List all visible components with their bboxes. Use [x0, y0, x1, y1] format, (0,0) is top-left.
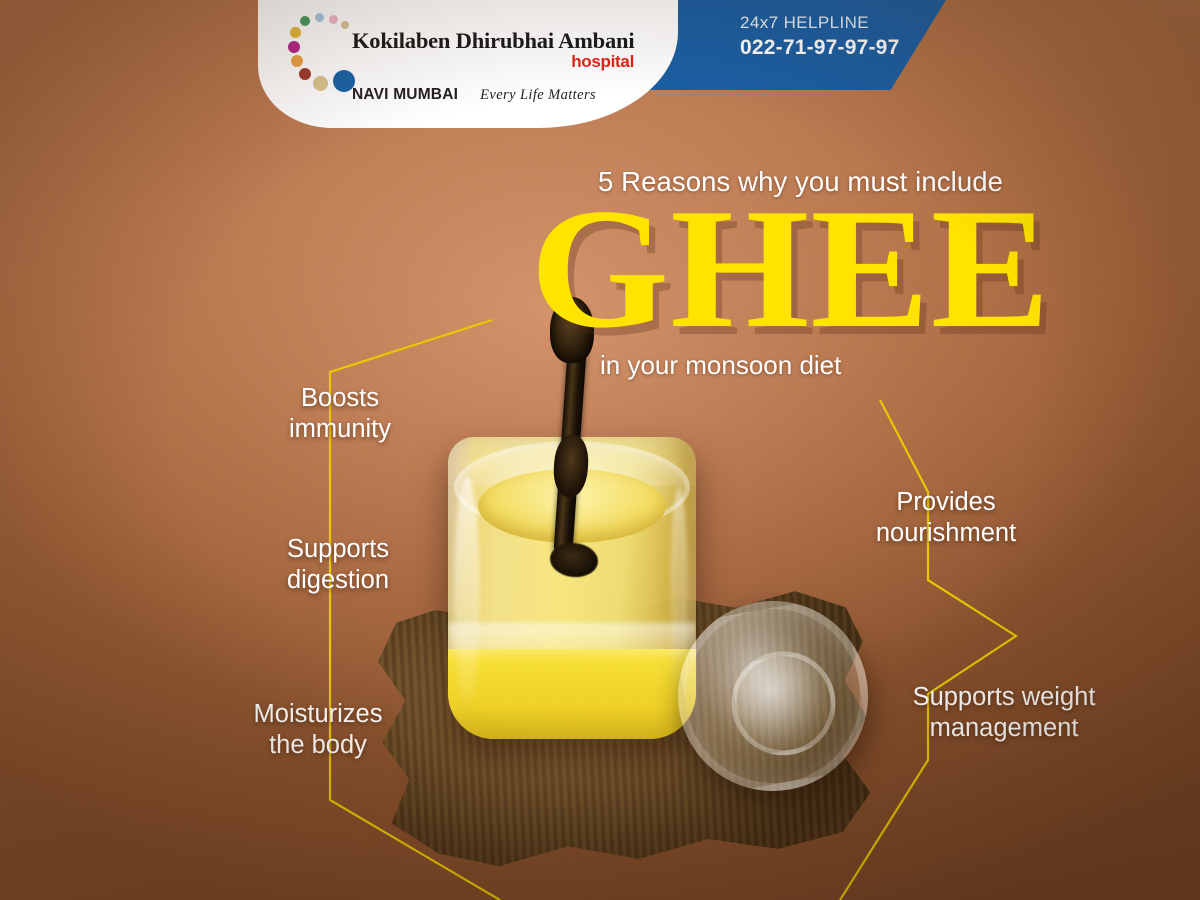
poster-root: 5 Reasons why you must include GHEE in y… [0, 0, 1200, 900]
jar-band [448, 623, 696, 657]
helpline-number[interactable]: 022-71-97-97-97 [740, 36, 899, 60]
ghee-jar-photo [330, 415, 910, 885]
title-block: 5 Reasons why you must include GHEE in y… [560, 166, 1160, 381]
logo-hospital-name: Kokilaben Dhirubhai Ambani [352, 28, 642, 54]
benefit-label-digestion: Supports digestion [240, 534, 436, 596]
benefit-label-moisturizes: Moisturizes the body [212, 699, 424, 761]
benefit-label-nourishment: Provides nourishment [838, 487, 1054, 549]
header: 24x7 HELPLINE 022-71-97-97-97 Kokilaben … [0, 0, 1200, 140]
logo-secondary-row: NAVI MUMBAI Every Life Matters [352, 86, 596, 104]
logo-city: NAVI MUMBAI [352, 86, 458, 104]
logo-wordmark: Kokilaben Dhirubhai Ambani hospital [352, 28, 642, 72]
headline-ghee: GHEE [530, 190, 1185, 348]
spoon-bowl [548, 541, 599, 580]
jar-gloss-left [454, 477, 480, 707]
benefit-label-weight-management: Supports weight management [880, 682, 1128, 744]
logo-tagline: Every Life Matters [480, 87, 596, 104]
spoon-midsection [552, 434, 590, 498]
jar-lower-ghee [448, 649, 696, 739]
logo-hospital-word: hospital [352, 52, 642, 72]
helpline-label: 24x7 HELPLINE [740, 13, 899, 33]
logo-dot-spiral-icon [287, 12, 359, 108]
benefit-label-immunity: Boosts immunity [246, 383, 434, 445]
